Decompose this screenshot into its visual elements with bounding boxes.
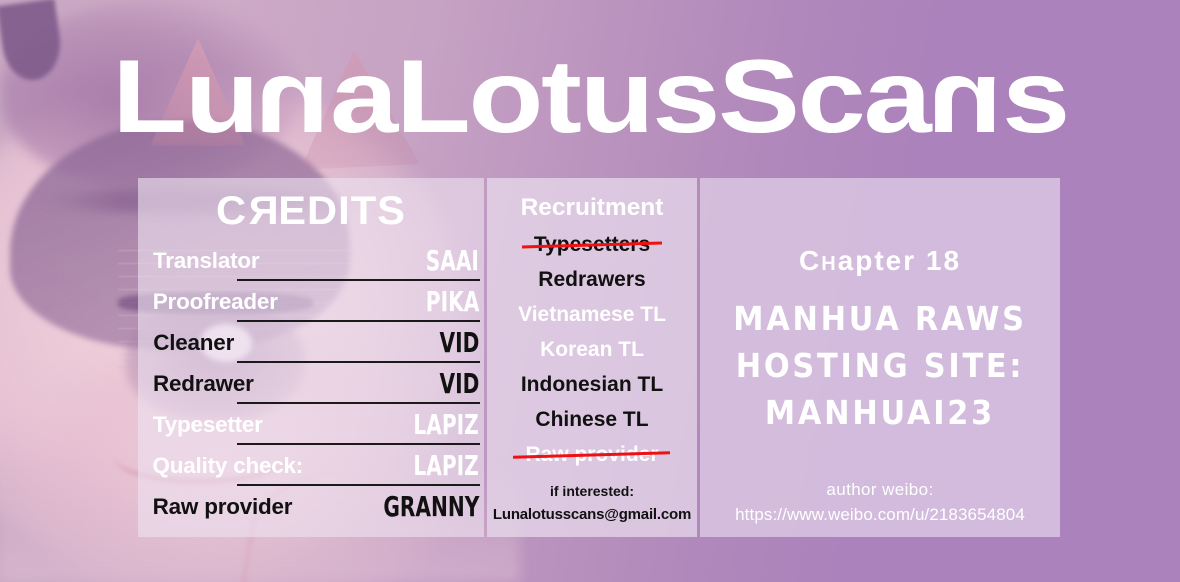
title-part-scans: Scans [718,39,1068,155]
recruitment-item-label: Typesetters [526,233,658,257]
credit-role-label: Quality check: [153,453,304,479]
recruitment-item-label: Raw provider [517,443,666,467]
recruitment-item-vietnamese-tl: Vietnamese TL [487,303,697,327]
chapter-info-panel: Chapter 18 MANHUA RAWS HOSTING SITE: MAN… [700,178,1060,537]
credit-name-value: GRANNY [383,490,479,523]
recruitment-email[interactable]: Lunalotusscans@gmail.com [487,506,697,523]
recruitment-item-typesetters: Typesetters [487,233,697,257]
credit-name-value: SAAI [426,244,479,277]
chapter-number-label: Chapter 18 [700,245,1060,277]
credit-role-label: Cleaner [153,330,234,356]
credit-name-value: VID [439,367,479,400]
credit-name-value: LAPIZ [414,449,479,482]
hosting-site-label: HOSTING SITE: [714,346,1045,385]
credit-role-label: Translator [153,248,259,274]
credit-name-value: PIKA [425,285,479,318]
recruitment-heading: Recruitment [485,194,699,222]
manhua-raws-label: MANHUA RAWS [714,299,1045,338]
credit-row-typesetter: Typesetter LAPIZ [138,404,484,445]
recruitment-item-korean-tl: Korean TL [487,338,697,362]
hosting-site-name: MANHUAI23 [714,393,1045,432]
scanlation-group-title: LunaLotusScans [0,42,1180,152]
title-part-lotus: Lotus [396,39,718,155]
credit-role-label: Redrawer [153,371,254,397]
recruitment-item-indonesian-tl: Indonesian TL [487,373,697,397]
recruitment-item-chinese-tl: Chinese TL [487,408,697,432]
credit-row-redrawer: Redrawer VID [138,363,484,404]
author-weibo-url[interactable]: https://www.weibo.com/u/2183654804 [700,505,1060,525]
credit-row-raw-provider: Raw provider GRANNY [138,486,484,527]
credits-heading: CREDITS [131,189,491,234]
author-weibo-block: author weibo: https://www.weibo.com/u/21… [700,480,1060,525]
credit-row-quality-check: Quality check: LAPIZ [138,445,484,486]
title-part-luna: Luna [112,39,396,155]
credit-row-cleaner: Cleaner VID [138,322,484,363]
credit-name-value: VID [439,326,479,359]
credits-panel-row: CREDITS Translator SAAI Proofreader PIKA… [138,178,1060,537]
author-weibo-label: author weibo: [700,480,1060,500]
credit-row-proofreader: Proofreader PIKA [138,281,484,322]
recruitment-item-redrawers: Redrawers [487,268,697,292]
credit-role-label: Typesetter [153,412,263,438]
credit-name-value: LAPIZ [414,408,479,441]
credits-row-list: Translator SAAI Proofreader PIKA Cleaner… [138,240,484,527]
credits-panel: CREDITS Translator SAAI Proofreader PIKA… [138,178,484,537]
recruitment-item-raw-provider: Raw provider [487,443,697,467]
recruitment-contact-block: if interested: Lunalotusscans@gmail.com [487,483,697,523]
credit-role-label: Proofreader [153,289,278,315]
recruitment-panel: Recruitment Typesetters Redrawers Vietna… [487,178,697,537]
credit-row-translator: Translator SAAI [138,240,484,281]
credit-role-label: Raw provider [153,494,293,520]
if-interested-label: if interested: [487,483,697,499]
